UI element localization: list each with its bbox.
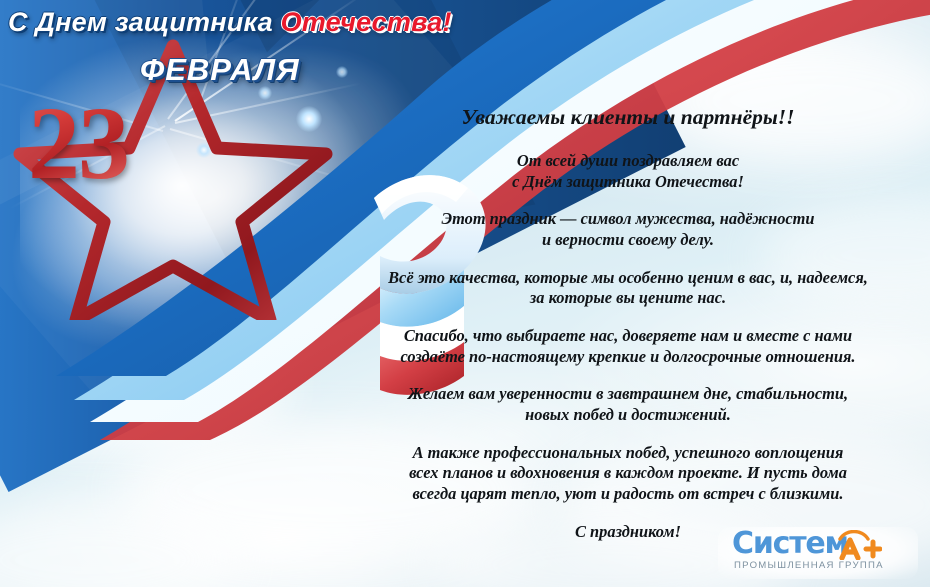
message-paragraph: Желаем вам уверенности в завтрашнем дне,… (330, 384, 926, 425)
message-paragraph: От всей души поздравляем вас с Днём защи… (330, 151, 926, 192)
message-paragraph: Спасибо, что выбираете нас, доверяете на… (330, 326, 926, 367)
logo-tagline: ПРОМЫШЛЕННАЯ ГРУППА (734, 560, 884, 571)
message-block: Уважаемы клиенты и партнёры!! От всей ду… (330, 104, 926, 542)
day-number: 23 (28, 92, 128, 196)
card-headline: С Днем защитника Отечества! (8, 9, 452, 36)
greeting-card: С Днем защитника Отечества! ФЕВРАЛЯ 23 У… (0, 0, 930, 587)
company-logo[interactable]: Систем ПРОМЫШЛЕННАЯ ГРУППА (718, 527, 918, 579)
month-label: ФЕВРАЛЯ (140, 52, 300, 88)
message-paragraph: Этот праздник — символ мужества, надёжно… (330, 209, 926, 250)
headline-white-part: С Днем защитника (8, 7, 273, 37)
logo-a-plus-icon (836, 530, 882, 560)
message-greeting: Уважаемы клиенты и партнёры!! (330, 104, 926, 131)
headline-red-part: Отечества! (281, 7, 452, 37)
logo-wordmark: Систем (732, 529, 848, 559)
message-paragraph: Всё это качества, которые мы особенно це… (330, 268, 926, 309)
message-paragraph: А также профессиональных побед, успешног… (330, 443, 926, 505)
